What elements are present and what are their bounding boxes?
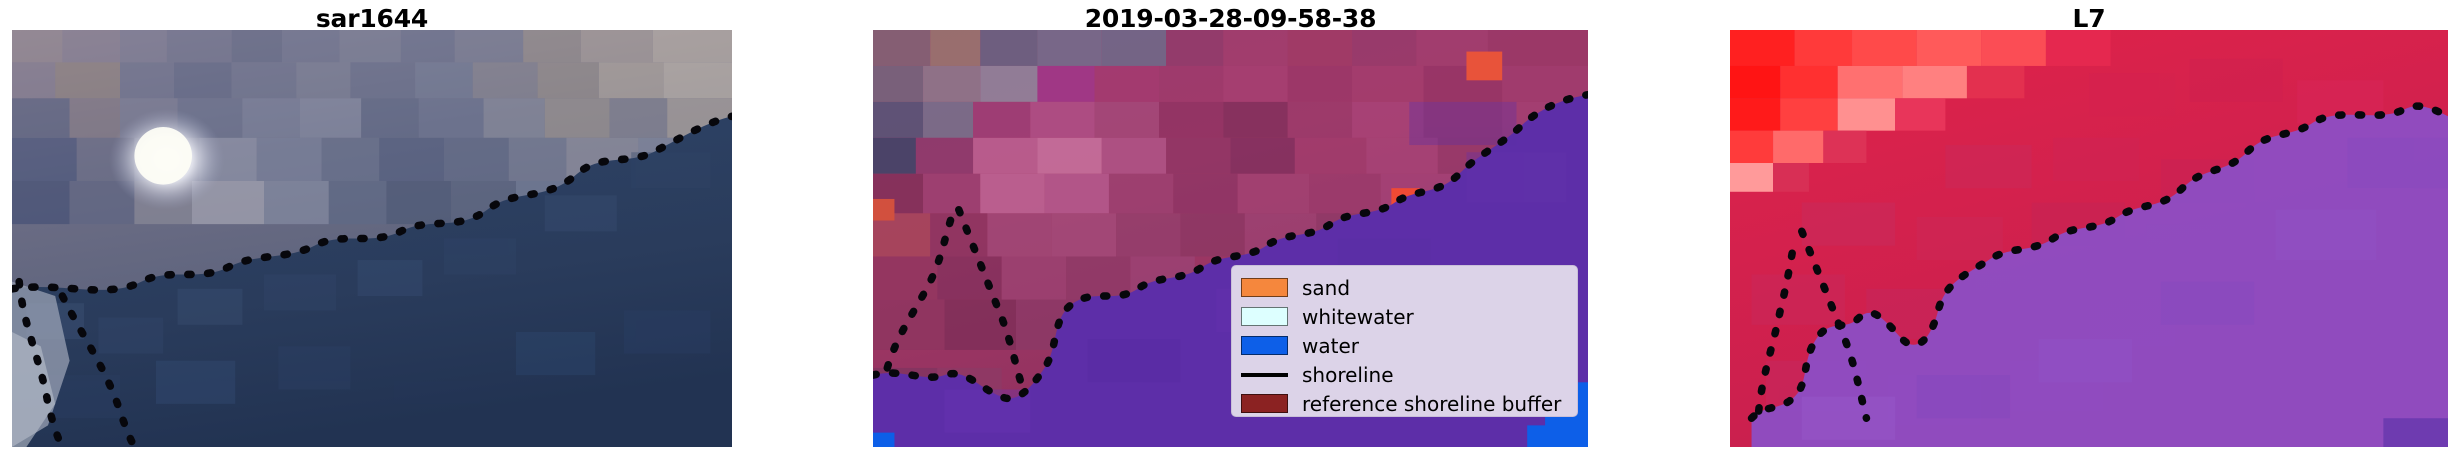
- sand-swatch-icon: [1241, 278, 1288, 297]
- sar-raster: [12, 30, 732, 447]
- reference-buffer-swatch-icon: [1241, 394, 1288, 413]
- legend-item-reference-buffer[interactable]: reference shoreline buffer: [1241, 389, 1567, 418]
- figure-canvas: sar1644: [0, 0, 2460, 461]
- legend-item-sand[interactable]: sand: [1241, 273, 1567, 302]
- panel-date-image[interactable]: sand whitewater water shoreline referenc…: [873, 30, 1588, 447]
- whitewater-swatch-icon: [1241, 307, 1288, 326]
- legend-item-shoreline[interactable]: shoreline: [1241, 360, 1567, 389]
- legend-item-whitewater[interactable]: whitewater: [1241, 302, 1567, 331]
- shoreline-line-icon: [1241, 365, 1288, 384]
- legend-label-sand: sand: [1302, 278, 1350, 298]
- l7-raster: [1730, 30, 2448, 447]
- legend-item-water[interactable]: water: [1241, 331, 1567, 360]
- legend-label-reference-buffer: reference shoreline buffer: [1302, 394, 1561, 414]
- legend-label-water: water: [1302, 336, 1359, 356]
- water-swatch-icon: [1241, 336, 1288, 355]
- panel-title-sar: sar1644: [12, 4, 732, 33]
- panel-title-date: 2019-03-28-09-58-38: [873, 4, 1588, 33]
- panel-sar-image[interactable]: [12, 30, 732, 447]
- panel-l7-image[interactable]: [1730, 30, 2448, 447]
- legend-label-whitewater: whitewater: [1302, 307, 1414, 327]
- panel-title-l7: L7: [1730, 4, 2448, 33]
- map-legend: sand whitewater water shoreline referenc…: [1231, 265, 1578, 417]
- legend-label-shoreline: shoreline: [1302, 365, 1394, 385]
